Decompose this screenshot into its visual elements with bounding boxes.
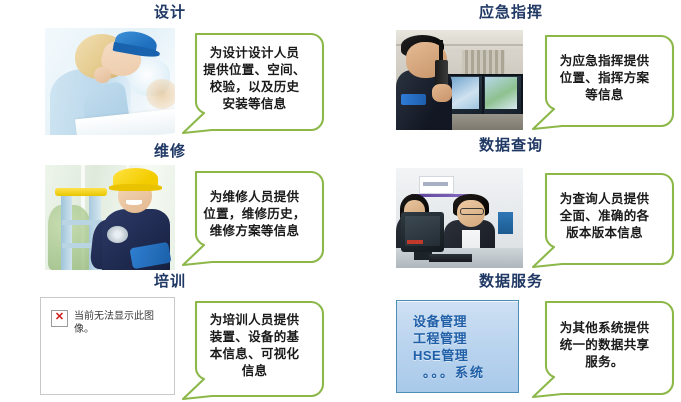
cell-title-design: 设计 — [0, 4, 340, 22]
bubble-query: 为查询人员提供 全面、准确的各 版本版本信息 — [530, 170, 677, 270]
cell-design: 设计 为设计设计人员 提供位置、空间、 校验，以及历史 安装等信息 — [0, 0, 340, 140]
service-line-others: 。。。系统 — [413, 364, 518, 381]
bubble-line: 为培训人员提供 — [210, 312, 300, 329]
cell-maintenance: 维修 为维修人员提供 位置，维修历史， 维修方案等信息 — [0, 140, 340, 270]
bubble-line: 全面、准确的各 — [560, 208, 650, 225]
bubble-text-training: 为培训人员提供 装置、设备的基 本信息、可视化 信息 — [180, 298, 327, 402]
photo-maintenance — [45, 165, 175, 270]
broken-image-message: 当前无法显示此图像。 — [74, 310, 166, 336]
service-line-engineering: 工程管理 — [413, 330, 518, 347]
bubble-line: 版本版本信息 — [566, 225, 643, 242]
bubble-line: 装置、设备的基 — [210, 329, 300, 346]
bubble-line: 维修方案等信息 — [210, 223, 300, 240]
bubble-line: 为其他系统提供 — [560, 320, 650, 337]
bubble-line: 位置、指挥方案 — [560, 70, 650, 87]
slide-canvas: 设计 为设计设计人员 提供位置、空间、 校验，以及历史 安装等信息 应急指挥 — [0, 0, 681, 400]
bubble-line: 统一的数据共享 — [560, 337, 650, 354]
bubble-maintenance: 为维修人员提供 位置，维修历史， 维修方案等信息 — [180, 168, 327, 268]
cell-title-training: 培训 — [0, 273, 340, 291]
bubble-line: 为查询人员提供 — [560, 191, 650, 208]
cell-title-maintenance: 维修 — [0, 143, 340, 161]
bubble-line: 本信息、可视化 — [210, 346, 300, 363]
service-systems-box: 设备管理 工程管理 HSE管理 。。。系统 — [396, 300, 519, 393]
bubble-line: 为维修人员提供 — [210, 189, 300, 206]
broken-image-placeholder: ✕ 当前无法显示此图像。 — [40, 297, 175, 395]
cell-title-emergency: 应急指挥 — [341, 4, 681, 22]
service-line-equipment: 设备管理 — [413, 313, 518, 330]
bubble-service: 为其他系统提供 统一的数据共享 服务。 — [530, 298, 677, 400]
bubble-line: 为应急指挥提供 — [560, 53, 650, 70]
bubble-line: 为设计设计人员 — [210, 45, 300, 62]
photo-design — [45, 28, 175, 135]
bubble-text-design: 为设计设计人员 提供位置、空间、 校验，以及历史 安装等信息 — [180, 30, 327, 136]
bubble-line: 安装等信息 — [222, 96, 286, 113]
service-line-hse: HSE管理 — [413, 347, 518, 364]
bubble-line: 服务。 — [585, 354, 623, 371]
cell-title-query: 数据查询 — [341, 137, 681, 155]
bubble-text-query: 为查询人员提供 全面、准确的各 版本版本信息 — [530, 170, 677, 270]
cell-emergency: 应急指挥 为应急指挥提供 位置、指挥方案 等信息 — [341, 0, 681, 140]
bubble-line: 位置，维修历史， — [203, 206, 305, 223]
photo-query — [396, 168, 523, 268]
cell-title-service: 数据服务 — [341, 273, 681, 291]
bubble-design: 为设计设计人员 提供位置、空间、 校验，以及历史 安装等信息 — [180, 30, 327, 136]
cell-training: 培训 ✕ 当前无法显示此图像。 为培训人员提供 装置、设备的基 本信息、可视化 … — [0, 265, 340, 400]
bubble-line: 信息 — [242, 363, 268, 380]
broken-image-icon: ✕ — [51, 310, 68, 327]
bubble-line: 提供位置、空间、 — [203, 62, 305, 79]
bubble-text-emergency: 为应急指挥提供 位置、指挥方案 等信息 — [530, 32, 677, 132]
cell-service: 数据服务 设备管理 工程管理 HSE管理 。。。系统 为其他系统提供 统一的数据… — [341, 265, 681, 400]
bubble-line: 校验，以及历史 — [210, 79, 300, 96]
bubble-training: 为培训人员提供 装置、设备的基 本信息、可视化 信息 — [180, 298, 327, 402]
cell-query: 数据查询 为查询人员提供 全面、准确的各 版本版本信息 — [341, 130, 681, 270]
bubble-line: 等信息 — [585, 87, 623, 104]
bubble-text-service: 为其他系统提供 统一的数据共享 服务。 — [530, 298, 677, 400]
bubble-text-maintenance: 为维修人员提供 位置，维修历史， 维修方案等信息 — [180, 168, 327, 268]
photo-emergency — [396, 30, 523, 130]
bubble-emergency: 为应急指挥提供 位置、指挥方案 等信息 — [530, 32, 677, 132]
